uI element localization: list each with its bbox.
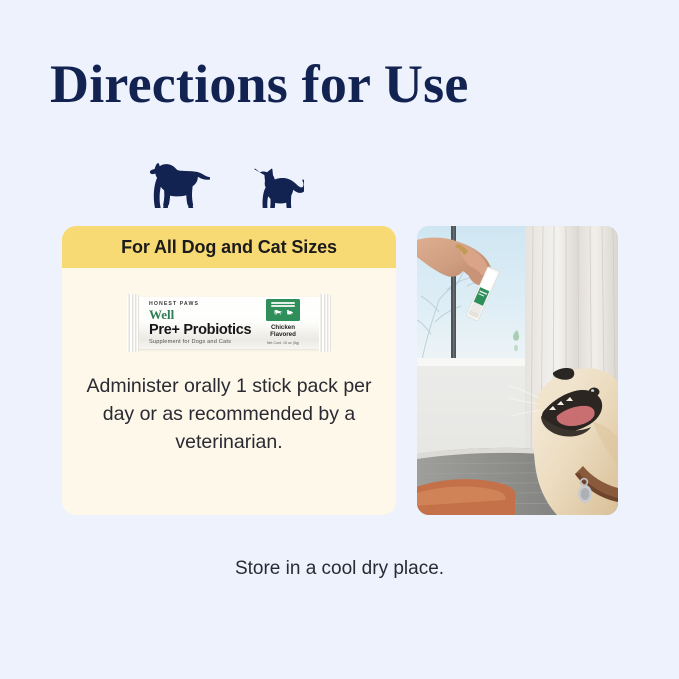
- badge-line-1: [271, 302, 295, 304]
- badge-cat-icon: [285, 309, 293, 315]
- badge-pet-icons: [266, 309, 300, 315]
- stick-pack-side-panel: Chicken Flavored Net Cont. 15 oz (5g): [261, 299, 305, 345]
- product-packet-illustration: HONEST PAWS Well Pre+ Probiotics Supplem…: [62, 294, 396, 352]
- card-banner: For All Dog and Cat Sizes: [62, 226, 396, 268]
- dog-receiving-supplement-photo: [417, 226, 618, 515]
- stick-pack-crimp-left: [127, 294, 139, 352]
- card-banner-label: For All Dog and Cat Sizes: [121, 237, 337, 258]
- stick-pack-crimp-right: [319, 294, 331, 352]
- dog-silhouette-icon: [148, 160, 210, 208]
- stick-pack: HONEST PAWS Well Pre+ Probiotics Supplem…: [127, 294, 331, 352]
- packet-green-badge: [266, 299, 300, 321]
- badge-line-2: [271, 305, 295, 307]
- directions-card: For All Dog and Cat Sizes HONEST PAWS We…: [62, 226, 396, 515]
- cat-silhouette-icon: [246, 166, 304, 208]
- directions-instructions: Administer orally 1 stick pack per day o…: [62, 372, 396, 456]
- packet-net-weight: Net Cont. 15 oz (5g): [261, 341, 305, 345]
- page-title: Directions for Use: [50, 52, 469, 116]
- pet-size-icons: [148, 160, 304, 208]
- packet-flavor: Chicken Flavored: [261, 324, 305, 339]
- storage-note: Store in a cool dry place.: [0, 558, 679, 580]
- badge-dog-icon: [274, 309, 283, 315]
